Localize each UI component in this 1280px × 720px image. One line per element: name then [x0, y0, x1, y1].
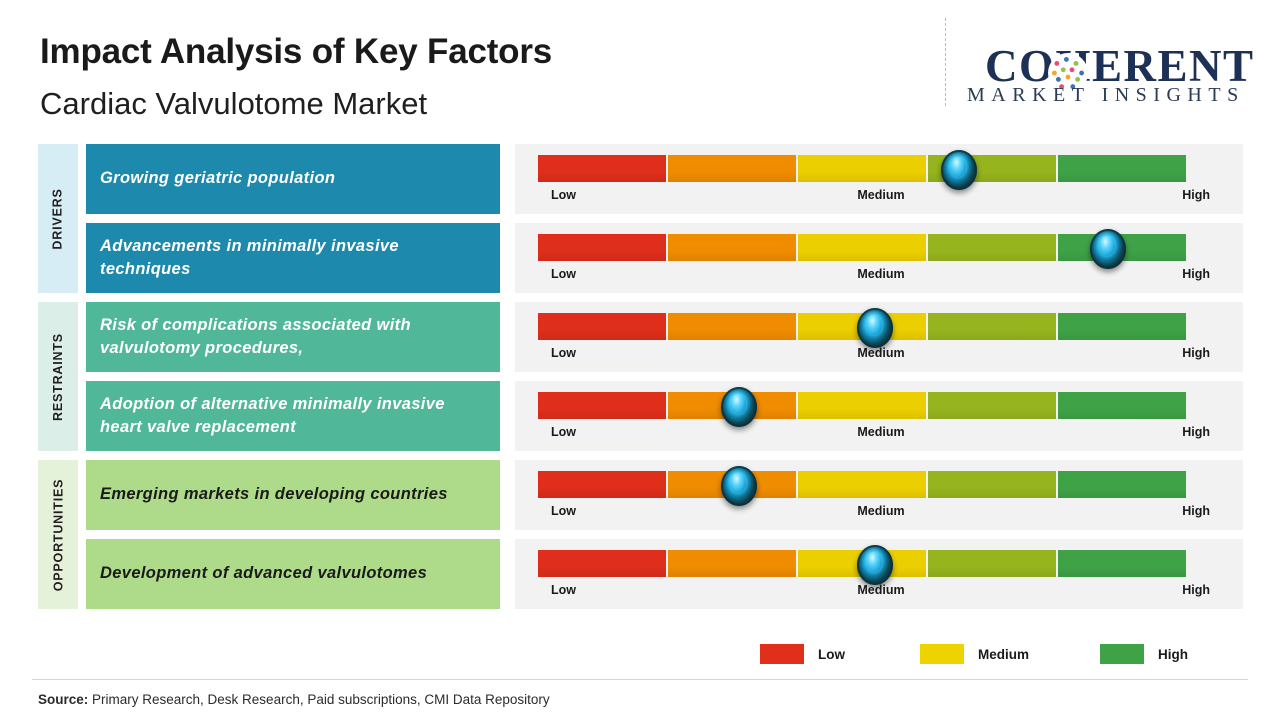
gauge-segment-1 — [538, 234, 666, 261]
gauge-axis-labels: LowMediumHigh — [538, 583, 1224, 603]
gauge-segment-2 — [668, 550, 796, 577]
axis-label-high: High — [1182, 188, 1210, 202]
axis-label-high: High — [1182, 583, 1210, 597]
category-label: DRIVERS — [51, 188, 65, 249]
legend-item: Low — [760, 644, 845, 664]
legend-item: High — [1100, 644, 1188, 664]
factor-card-label: Advancements in minimally invasive techn… — [100, 235, 486, 282]
legend-swatch — [920, 644, 964, 664]
impact-marker[interactable] — [721, 466, 757, 506]
factor-card[interactable]: Adoption of alternative minimally invasi… — [86, 381, 500, 451]
gauge-segment-5 — [1058, 313, 1186, 340]
gauge-segment-3 — [798, 234, 926, 261]
gauge-scale-bar — [538, 471, 1186, 498]
impact-gauge[interactable]: LowMediumHigh — [515, 381, 1243, 451]
axis-label-high: High — [1182, 425, 1210, 439]
gauge-segment-1 — [538, 471, 666, 498]
axis-label-high: High — [1182, 346, 1210, 360]
legend-item: Medium — [920, 644, 1029, 664]
factor-card-label: Emerging markets in developing countries — [100, 483, 448, 506]
factor-card[interactable]: Advancements in minimally invasive techn… — [86, 223, 500, 293]
axis-label-medium: Medium — [857, 583, 904, 597]
gauge-segment-4 — [928, 550, 1056, 577]
axis-label-medium: Medium — [857, 504, 904, 518]
category-label: OPPORTUNITIES — [51, 478, 65, 591]
impact-marker[interactable] — [941, 150, 977, 190]
factor-card[interactable]: Development of advanced valvulotomes — [86, 539, 500, 609]
impact-marker[interactable] — [721, 387, 757, 427]
axis-label-medium: Medium — [857, 188, 904, 202]
gauge-segment-5 — [1058, 550, 1186, 577]
gauge-segment-4 — [928, 313, 1056, 340]
factor-card-label: Growing geriatric population — [100, 167, 335, 190]
axis-label-medium: Medium — [857, 425, 904, 439]
impact-marker[interactable] — [857, 308, 893, 348]
factor-card-label: Development of advanced valvulotomes — [100, 562, 427, 585]
gauge-axis-labels: LowMediumHigh — [538, 346, 1224, 366]
legend: LowMediumHigh — [760, 644, 1200, 670]
gauge-segment-1 — [538, 313, 666, 340]
gauge-segment-2 — [668, 313, 796, 340]
gauge-axis-labels: LowMediumHigh — [538, 188, 1224, 208]
gauge-scale-bar — [538, 155, 1186, 182]
factor-card-label: Adoption of alternative minimally invasi… — [100, 393, 486, 440]
page-subtitle: Cardiac Valvulotome Market — [40, 86, 427, 122]
category-column-drivers: DRIVERS — [38, 144, 78, 293]
gauge-segment-3 — [798, 392, 926, 419]
category-column-opportunities: OPPORTUNITIES — [38, 460, 78, 609]
factor-card[interactable]: Risk of complications associated with va… — [86, 302, 500, 372]
footer-divider — [32, 679, 1248, 680]
gauge-segment-5 — [1058, 471, 1186, 498]
gauge-segment-2 — [668, 155, 796, 182]
axis-label-low: Low — [551, 583, 576, 597]
impact-gauge[interactable]: LowMediumHigh — [515, 539, 1243, 609]
legend-swatch — [760, 644, 804, 664]
impact-marker[interactable] — [857, 545, 893, 585]
gauge-scale-bar — [538, 234, 1186, 261]
page-title: Impact Analysis of Key Factors — [40, 32, 552, 72]
category-column-restraints: RESTRAINTS — [38, 302, 78, 451]
factor-card-label: Risk of complications associated with va… — [100, 314, 486, 361]
legend-label: High — [1158, 647, 1188, 662]
axis-label-medium: Medium — [857, 346, 904, 360]
impact-gauge[interactable]: LowMediumHigh — [515, 302, 1243, 372]
source-note: Source: Primary Research, Desk Research,… — [38, 692, 550, 707]
axis-label-medium: Medium — [857, 267, 904, 281]
gauge-segment-5 — [1058, 392, 1186, 419]
gauge-segment-2 — [668, 234, 796, 261]
impact-gauge[interactable]: LowMediumHigh — [515, 144, 1243, 214]
logo-tagline: MARKET INSIGHTS — [967, 84, 1245, 107]
gauge-segment-3 — [798, 155, 926, 182]
legend-label: Medium — [978, 647, 1029, 662]
impact-marker[interactable] — [1090, 229, 1126, 269]
axis-label-low: Low — [551, 504, 576, 518]
gauge-segment-5 — [1058, 155, 1186, 182]
axis-label-low: Low — [551, 425, 576, 439]
gauge-segment-3 — [798, 471, 926, 498]
factor-card[interactable]: Emerging markets in developing countries — [86, 460, 500, 530]
gauge-segment-4 — [928, 234, 1056, 261]
gauge-scale-bar — [538, 392, 1186, 419]
logo-wordmark: COHERENT — [965, 26, 1265, 78]
gauge-axis-labels: LowMediumHigh — [538, 425, 1224, 445]
gauge-segment-1 — [538, 392, 666, 419]
axis-label-high: High — [1182, 267, 1210, 281]
gauge-segment-4 — [928, 392, 1056, 419]
impact-gauge[interactable]: LowMediumHigh — [515, 223, 1243, 293]
factor-card[interactable]: Growing geriatric population — [86, 144, 500, 214]
gauge-segment-1 — [538, 155, 666, 182]
axis-label-high: High — [1182, 504, 1210, 518]
gauge-segment-4 — [928, 471, 1056, 498]
legend-label: Low — [818, 647, 845, 662]
gauge-segment-1 — [538, 550, 666, 577]
legend-swatch — [1100, 644, 1144, 664]
impact-matrix: DRIVERSRESTRAINTSOPPORTUNITIESGrowing ge… — [0, 130, 1280, 610]
logo-divider — [945, 18, 946, 106]
axis-label-low: Low — [551, 188, 576, 202]
source-value: Primary Research, Desk Research, Paid su… — [88, 692, 549, 707]
axis-label-low: Low — [551, 346, 576, 360]
source-label: Source: — [38, 692, 88, 707]
impact-gauge[interactable]: LowMediumHigh — [515, 460, 1243, 530]
category-label: RESTRAINTS — [51, 333, 65, 421]
gauge-axis-labels: LowMediumHigh — [538, 504, 1224, 524]
axis-label-low: Low — [551, 267, 576, 281]
gauge-axis-labels: LowMediumHigh — [538, 267, 1224, 287]
brand-logo: COHERENT MARKET INSIGHTS — [945, 18, 1265, 114]
